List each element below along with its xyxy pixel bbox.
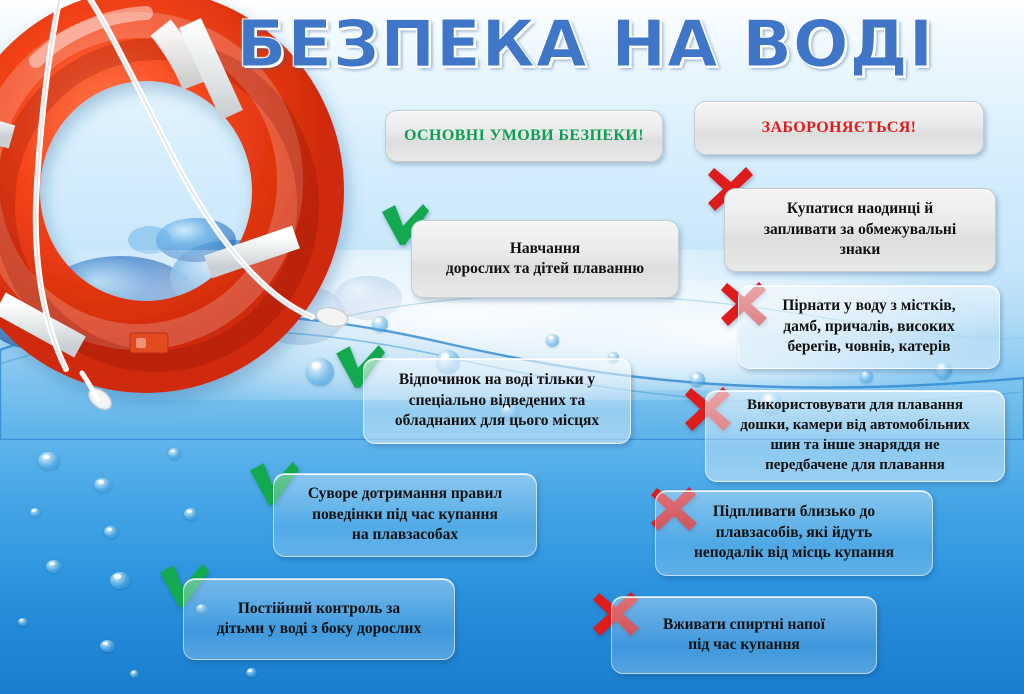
forbidden-item-4: Підпливати близько до плавзасобів, які й… — [655, 490, 933, 576]
allowed-item-4: Постійний контроль за дітьми у воді з бо… — [183, 578, 455, 660]
water-droplet — [246, 668, 257, 677]
forbidden-item-5-line-2: під час купання — [663, 635, 825, 655]
forbidden-item-2-line-1: Пірнати у воду з містків, — [782, 296, 955, 316]
forbidden-item-1-line-2: запливати за обмежувальні — [764, 220, 956, 240]
water-droplet — [46, 560, 62, 573]
forbidden-item-1-line-1: Купатися наодинці й — [764, 199, 956, 219]
allowed-item-3-line-2: поведінки під час купання — [308, 505, 502, 525]
water-droplet — [94, 478, 112, 492]
water-droplet — [104, 526, 118, 538]
forbidden-item-4-line-1: Підпливати близько до — [694, 502, 894, 522]
allowed-item-2: Відпочинок на воді тільки у спеціально в… — [363, 358, 631, 444]
forbidden-item-2-line-2: дамб, причалів, високих — [782, 317, 955, 337]
forbidden-item-2: Пірнати у воду з містків, дамб, причалів… — [738, 285, 1000, 369]
allowed-item-4-line-2: дітьми у воді з боку дорослих — [217, 619, 422, 639]
forbidden-item-4-line-2: плавзасобів, які йдуть — [694, 523, 894, 543]
water-droplet — [184, 508, 198, 520]
forbidden-item-1: Купатися наодинці й запливати за обмежув… — [724, 188, 996, 272]
water-droplet — [38, 452, 60, 470]
forbidden-item-2-line-3: берегів, човнів, катерів — [782, 337, 955, 357]
forbidden-item-3: Використовувати для плавання дошки, каме… — [705, 390, 1005, 482]
allowed-item-1: Навчання дорослих та дітей плаванню — [411, 220, 679, 298]
allowed-item-2-line-3: обладнаних для цього місцях — [395, 411, 599, 431]
forbidden-item-1-line-3: знаки — [764, 240, 956, 260]
water-droplet — [372, 316, 388, 332]
forbidden-item-3-line-1: Використовувати для плавання — [740, 396, 970, 416]
water-droplet — [546, 334, 559, 347]
forbidden-item-3-line-2: дошки, камери від автомобільних — [740, 416, 970, 436]
allowed-item-4-line-1: Постійний контроль за — [217, 599, 422, 619]
column-header-forbidden: ЗАБОРОНЯЄТЬСЯ! — [694, 101, 984, 155]
poster-canvas: БЕЗПЕКА НА ВОДІ ОСНОВНІ УМОВИ БЕЗПЕКИ! З… — [0, 0, 1024, 694]
column-header-allowed: ОСНОВНІ УМОВИ БЕЗПЕКИ! — [385, 110, 663, 162]
allowed-item-2-line-2: спеціально відведених та — [395, 391, 599, 411]
allowed-item-2-line-1: Відпочинок на воді тільки у — [395, 370, 599, 390]
water-droplet — [18, 618, 28, 626]
allowed-item-3-line-1: Суворе дотримання правил — [308, 484, 502, 504]
water-droplet — [860, 370, 873, 383]
poster-title: БЕЗПЕКА НА ВОДІ — [237, 6, 890, 86]
water-droplet — [30, 508, 41, 517]
allowed-item-3: Суворе дотримання правил поведінки під ч… — [273, 473, 537, 557]
forbidden-item-3-line-4: передбачене для плавання — [740, 456, 970, 476]
water-droplet — [168, 448, 181, 459]
water-droplet — [110, 572, 130, 589]
water-droplet — [690, 372, 705, 387]
forbidden-item-4-line-3: неподалік від місць купання — [694, 543, 894, 563]
forbidden-item-5: Вживати спиртні напої під час купання — [611, 596, 877, 674]
allowed-item-1-line-2: дорослих та дітей плаванню — [446, 259, 644, 279]
water-droplet — [100, 640, 115, 652]
allowed-item-1-line-1: Навчання — [446, 239, 644, 259]
water-droplet — [130, 670, 139, 678]
allowed-item-3-line-3: на плавзасобах — [308, 525, 502, 545]
forbidden-item-3-line-3: шин та інше знаряддя не — [740, 436, 970, 456]
forbidden-item-5-line-1: Вживати спиртні напої — [663, 615, 825, 635]
